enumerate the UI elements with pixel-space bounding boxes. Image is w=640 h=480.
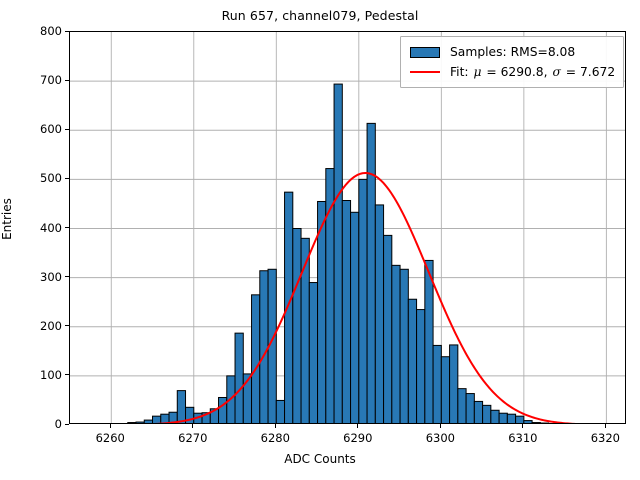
y-tick-label: 600	[19, 122, 62, 136]
legend-line-swatch-icon	[409, 65, 441, 79]
x-tick-label: 6270	[178, 431, 207, 445]
chart-legend: Samples: RMS=8.08 Fit: μ = 6290.8, σ = 7…	[400, 36, 624, 88]
y-tick-mark	[65, 227, 69, 228]
x-tick-label: 6290	[343, 431, 372, 445]
legend-item-samples: Samples: RMS=8.08	[409, 42, 615, 62]
histogram-bar	[260, 271, 268, 424]
y-tick-mark	[65, 31, 69, 32]
histogram-bar	[252, 295, 260, 424]
histogram-bar	[293, 229, 301, 425]
x-tick-mark	[275, 424, 276, 428]
x-tick-mark	[192, 424, 193, 428]
histogram-bar	[408, 299, 416, 424]
y-tick-label: 200	[19, 319, 62, 333]
histogram-bar	[235, 333, 243, 424]
histogram-bar	[441, 357, 449, 424]
y-tick-mark	[65, 80, 69, 81]
histogram-bar	[359, 179, 367, 424]
histogram-bar	[474, 401, 482, 424]
histogram-bar	[524, 421, 532, 424]
histogram-bar	[144, 420, 152, 424]
y-tick-mark	[65, 424, 69, 425]
y-tick-mark	[65, 178, 69, 179]
legend-fit-mu-symbol: μ	[472, 65, 482, 79]
histogram-bar	[342, 200, 350, 424]
histogram-bar	[491, 410, 499, 424]
histogram-bar	[334, 84, 342, 424]
legend-item-fit: Fit: μ = 6290.8, σ = 7.672	[409, 62, 615, 82]
legend-patch-swatch-icon	[409, 45, 441, 59]
legend-label-fit: Fit: μ = 6290.8, σ = 7.672	[450, 65, 615, 79]
y-tick-label: 100	[19, 368, 62, 382]
x-tick-mark	[357, 424, 358, 428]
histogram-bar	[516, 416, 524, 424]
legend-label-samples: Samples: RMS=8.08	[450, 45, 575, 59]
histogram-bar	[507, 414, 515, 424]
histogram-bar	[128, 423, 136, 424]
histogram-bar	[425, 260, 433, 424]
histogram-bar	[400, 269, 408, 424]
histogram-bar	[276, 400, 284, 424]
x-tick-label: 6300	[426, 431, 455, 445]
histogram-bar	[285, 192, 293, 424]
y-tick-mark	[65, 276, 69, 277]
histogram-bar	[499, 413, 507, 424]
histogram-bar	[458, 389, 466, 424]
y-tick-label: 800	[19, 24, 62, 38]
y-tick-mark	[65, 325, 69, 326]
histogram-bar	[351, 212, 359, 424]
legend-fit-mu-value: = 6290.8,	[482, 65, 551, 79]
legend-fit-sigma-symbol: σ	[551, 65, 561, 79]
histogram-bar	[532, 423, 540, 424]
matplotlib-figure: Run 657, channel079, Pedestal 6260627062…	[0, 0, 640, 480]
histogram-bar	[375, 205, 383, 424]
y-tick-label: 300	[19, 270, 62, 284]
histogram-bar	[177, 391, 185, 424]
histogram-bar	[367, 123, 375, 424]
histogram-bar	[309, 283, 317, 424]
y-tick-label: 500	[19, 171, 62, 185]
x-tick-label: 6310	[508, 431, 537, 445]
page-title: Run 657, channel079, Pedestal	[0, 8, 640, 23]
histogram-bar	[540, 423, 548, 424]
legend-fit-sigma-value: = 7.672	[562, 65, 615, 79]
x-tick-mark	[605, 424, 606, 428]
histogram-bar	[219, 397, 227, 424]
x-tick-label: 6260	[96, 431, 125, 445]
x-tick-label: 6280	[261, 431, 290, 445]
y-tick-mark	[65, 374, 69, 375]
histogram-bars	[87, 84, 590, 424]
y-tick-mark	[65, 129, 69, 130]
y-tick-label: 700	[19, 73, 62, 87]
x-tick-mark	[110, 424, 111, 428]
histogram-bar	[136, 422, 144, 424]
histogram-bar	[450, 345, 458, 424]
x-axis-label: ADC Counts	[0, 452, 640, 466]
plot-axes-area	[69, 31, 626, 424]
histogram-bar	[433, 345, 441, 424]
histogram-bar	[417, 310, 425, 424]
y-axis-label: Entries	[0, 139, 14, 299]
x-tick-label: 6320	[591, 431, 620, 445]
x-tick-mark	[522, 424, 523, 428]
histogram-bar	[186, 407, 194, 424]
histogram-bar	[466, 394, 474, 424]
y-tick-label: 0	[19, 417, 62, 431]
histogram-bar	[483, 405, 491, 424]
histogram-bar	[392, 265, 400, 424]
plot-canvas	[70, 32, 626, 424]
histogram-bar	[326, 169, 334, 424]
legend-fit-prefix: Fit:	[450, 65, 472, 79]
y-tick-label: 400	[19, 221, 62, 235]
histogram-bar	[384, 235, 392, 424]
x-tick-mark	[440, 424, 441, 428]
